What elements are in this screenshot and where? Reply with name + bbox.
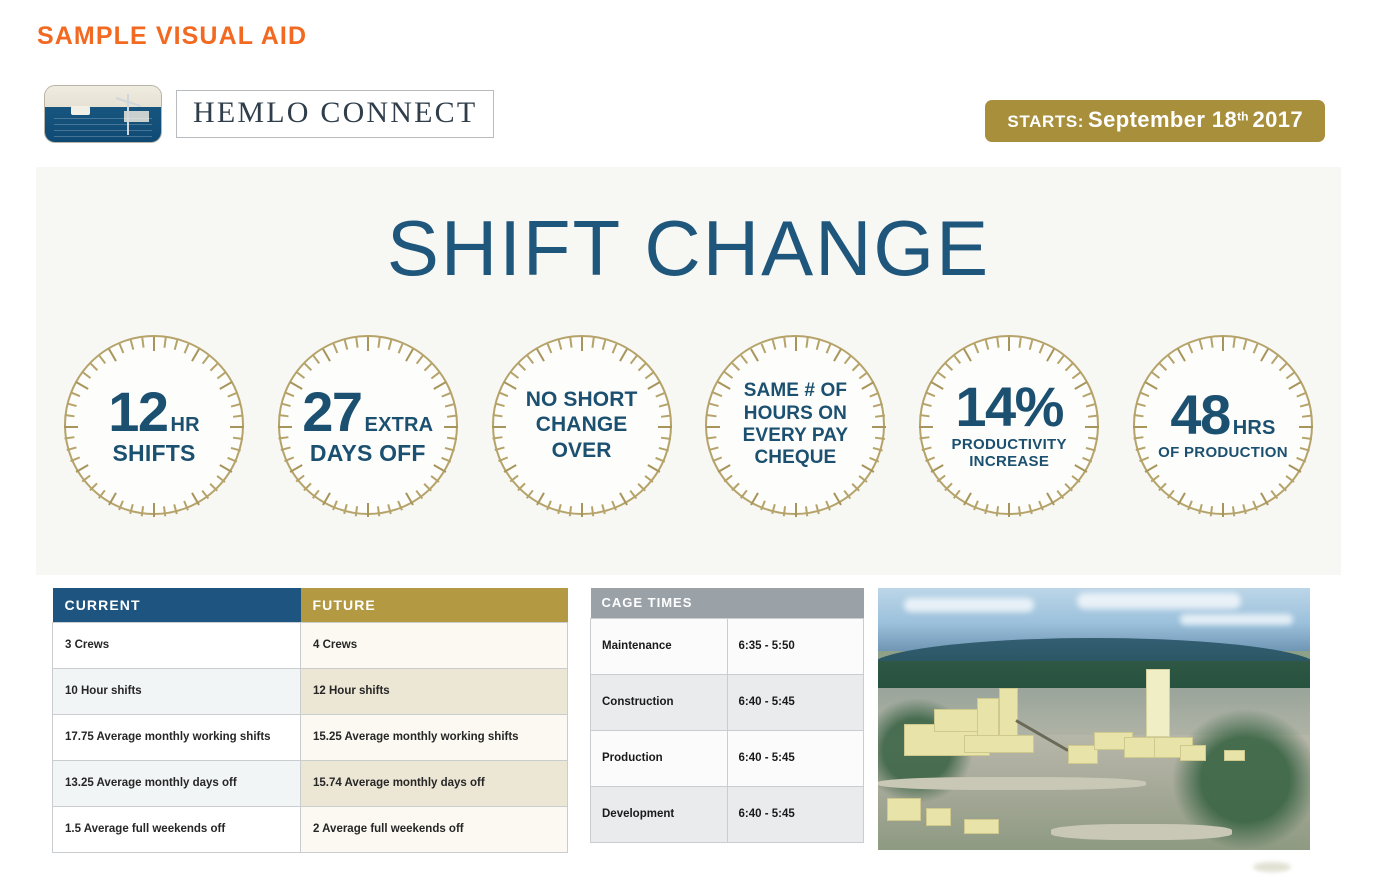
badge-sublabel: PRODUCTIVITY INCREASE — [935, 436, 1083, 471]
table-row: Production6:40 - 5:45 — [591, 730, 864, 786]
badge-14-percent-productivity-increase: 14% PRODUCTIVITY INCREASE — [919, 335, 1099, 515]
badge-number: 48 — [1170, 388, 1229, 441]
table-row: Development6:40 - 5:45 — [591, 786, 864, 842]
start-date-badge: STARTS:September 18th2017 — [985, 100, 1325, 142]
cell-current: 10 Hour shifts — [53, 668, 301, 714]
badge-text: NO SHORT CHANGE OVER — [508, 387, 656, 463]
badge-no-short-change-over: NO SHORT CHANGE OVER — [492, 335, 672, 515]
hemlo-connect-wordmark: HEMLO CONNECT — [176, 90, 494, 138]
starts-label: STARTS: — [1007, 112, 1084, 131]
badge-sublabel: SHIFTS — [113, 441, 196, 465]
column-header-future: FUTURE — [301, 588, 568, 622]
table-row: Maintenance6:35 - 5:50 — [591, 618, 864, 674]
badge-number: 14% — [955, 380, 1063, 433]
badge-48-hrs-of-production: 48 HRS OF PRODUCTION — [1133, 335, 1313, 515]
start-date-ordinal: th — [1237, 110, 1248, 124]
table-row: 3 Crews4 Crews — [53, 622, 568, 668]
cell-current: 1.5 Average full weekends off — [53, 806, 301, 852]
visual-aid-page: SAMPLE VISUAL AID HEMLO CONNECT STARTS:S… — [0, 0, 1377, 892]
cell-cage-time: 6:35 - 5:50 — [727, 618, 864, 674]
cell-future: 2 Average full weekends off — [301, 806, 568, 852]
page-title: SHIFT CHANGE — [36, 203, 1341, 294]
cell-future: 12 Hour shifts — [301, 668, 568, 714]
badge-text: SAME # OF HOURS ON EVERY PAY CHEQUE — [721, 380, 869, 470]
cell-current: 3 Crews — [53, 622, 301, 668]
cell-cage-group: Development — [591, 786, 728, 842]
cell-current: 17.75 Average monthly working shifts — [53, 714, 301, 760]
table-row: 13.25 Average monthly days off15.74 Aver… — [53, 760, 568, 806]
cage-times-section: CAGE TIMES Maintenance6:35 - 5:50Constru… — [590, 588, 864, 843]
badge-number: 27 — [302, 385, 361, 438]
cell-cage-group: Construction — [591, 674, 728, 730]
badge-unit: HR — [171, 414, 200, 437]
bottom-content-row: CURRENT FUTURE 3 Crews4 Crews10 Hour shi… — [52, 588, 1310, 854]
table-header-row: CAGE TIMES — [591, 588, 864, 618]
badge-sublabel: DAYS OFF — [310, 441, 426, 465]
cell-current: 13.25 Average monthly days off — [53, 760, 301, 806]
shift-change-panel: SHIFT CHANGE 12 HR SHIFTS 27 — [36, 167, 1341, 575]
table-header-row: CURRENT FUTURE — [53, 588, 568, 622]
cell-future: 4 Crews — [301, 622, 568, 668]
badge-27-extra-days-off: 27 EXTRA DAYS OFF — [278, 335, 458, 515]
cell-cage-time: 6:40 - 5:45 — [727, 786, 864, 842]
cell-cage-group: Maintenance — [591, 618, 728, 674]
badge-sublabel: OF PRODUCTION — [1158, 444, 1288, 461]
sample-visual-aid-label: SAMPLE VISUAL AID — [37, 22, 307, 51]
brand-header: HEMLO CONNECT — [44, 85, 494, 143]
column-header-cage-times: CAGE TIMES — [591, 588, 864, 618]
cell-cage-time: 6:40 - 5:45 — [727, 674, 864, 730]
badge-unit: EXTRA — [365, 414, 434, 437]
aerial-mine-site-photo — [878, 588, 1310, 850]
cell-future: 15.25 Average monthly working shifts — [301, 714, 568, 760]
table-row: 17.75 Average monthly working shifts15.2… — [53, 714, 568, 760]
badge-unit: HRS — [1233, 417, 1276, 440]
cell-future: 15.74 Average monthly days off — [301, 760, 568, 806]
table-row: Construction6:40 - 5:45 — [591, 674, 864, 730]
column-header-current: CURRENT — [53, 588, 301, 622]
current-future-comparison-table: CURRENT FUTURE 3 Crews4 Crews10 Hour shi… — [52, 588, 568, 853]
mine-headframe-logo-icon — [44, 85, 162, 143]
cage-times-table: CAGE TIMES Maintenance6:35 - 5:50Constru… — [590, 588, 864, 843]
clock-badge-row: 12 HR SHIFTS 27 EXTRA DAYS OFF — [64, 335, 1313, 515]
badge-same-hours-every-pay-cheque: SAME # OF HOURS ON EVERY PAY CHEQUE — [705, 335, 885, 515]
badge-12-hr-shifts: 12 HR SHIFTS — [64, 335, 244, 515]
badge-number: 12 — [108, 385, 167, 438]
cell-cage-time: 6:40 - 5:45 — [727, 730, 864, 786]
start-date-value: September 18 — [1088, 107, 1237, 132]
corner-artifact — [1253, 862, 1291, 872]
table-row: 10 Hour shifts12 Hour shifts — [53, 668, 568, 714]
cell-cage-group: Production — [591, 730, 728, 786]
table-row: 1.5 Average full weekends off2 Average f… — [53, 806, 568, 852]
start-date-year: 2017 — [1252, 107, 1303, 132]
